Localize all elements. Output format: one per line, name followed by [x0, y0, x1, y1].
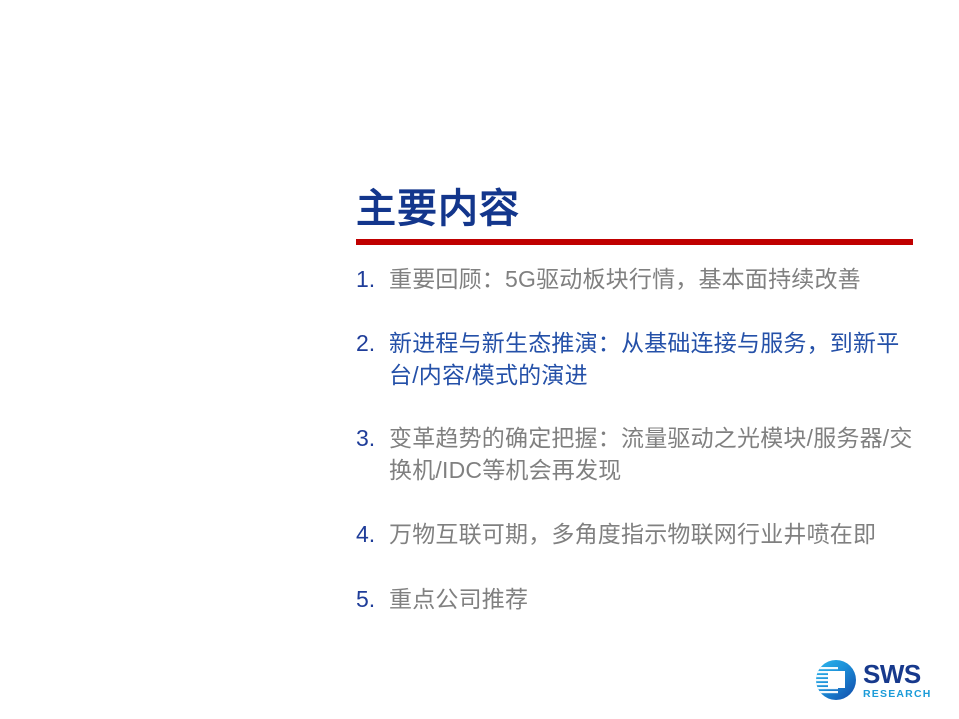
agenda-item-2[interactable]: 2. 新进程与新生态推演：从基础连接与服务，到新平台/内容/模式的演进 [356, 327, 916, 391]
agenda-item-5-number: 5. [356, 583, 389, 615]
title-underline-rule [356, 239, 913, 245]
agenda-item-1-label: 重要回顾：5G驱动板块行情，基本面持续改善 [389, 263, 916, 295]
logo-name: SWS [863, 661, 932, 687]
logo-subtitle: RESEARCH [863, 689, 932, 700]
agenda-item-4-label: 万物互联可期，多角度指示物联网行业井喷在即 [389, 518, 916, 550]
agenda-item-3[interactable]: 3. 变革趋势的确定把握：流量驱动之光模块/服务器/交换机/IDC等机会再发现 [356, 422, 916, 486]
agenda-item-3-number: 3. [356, 422, 389, 454]
logo-wordmark: SWS RESEARCH [863, 661, 932, 700]
title-block: 主要内容 [356, 186, 913, 245]
agenda-list: 1. 重要回顾：5G驱动板块行情，基本面持续改善 2. 新进程与新生态推演：从基… [356, 263, 916, 615]
page-title: 主要内容 [356, 186, 913, 232]
agenda-item-5[interactable]: 5. 重点公司推荐 [356, 583, 916, 615]
agenda-item-5-label: 重点公司推荐 [389, 583, 916, 615]
sws-research-logo: SWS RESEARCH [812, 652, 952, 708]
slide-canvas: 主要内容 1. 重要回顾：5G驱动板块行情，基本面持续改善 2. 新进程与新生态… [0, 0, 959, 719]
agenda-item-4-number: 4. [356, 518, 389, 550]
agenda-item-1[interactable]: 1. 重要回顾：5G驱动板块行情，基本面持续改善 [356, 263, 916, 295]
agenda-item-1-number: 1. [356, 263, 389, 295]
agenda-item-2-label: 新进程与新生态推演：从基础连接与服务，到新平台/内容/模式的演进 [389, 327, 916, 391]
agenda-item-3-label: 变革趋势的确定把握：流量驱动之光模块/服务器/交换机/IDC等机会再发现 [389, 422, 916, 486]
agenda-item-4[interactable]: 4. 万物互联可期，多角度指示物联网行业井喷在即 [356, 518, 916, 550]
sws-circle-square-logo-icon [812, 656, 860, 704]
agenda-item-2-number: 2. [356, 327, 389, 359]
